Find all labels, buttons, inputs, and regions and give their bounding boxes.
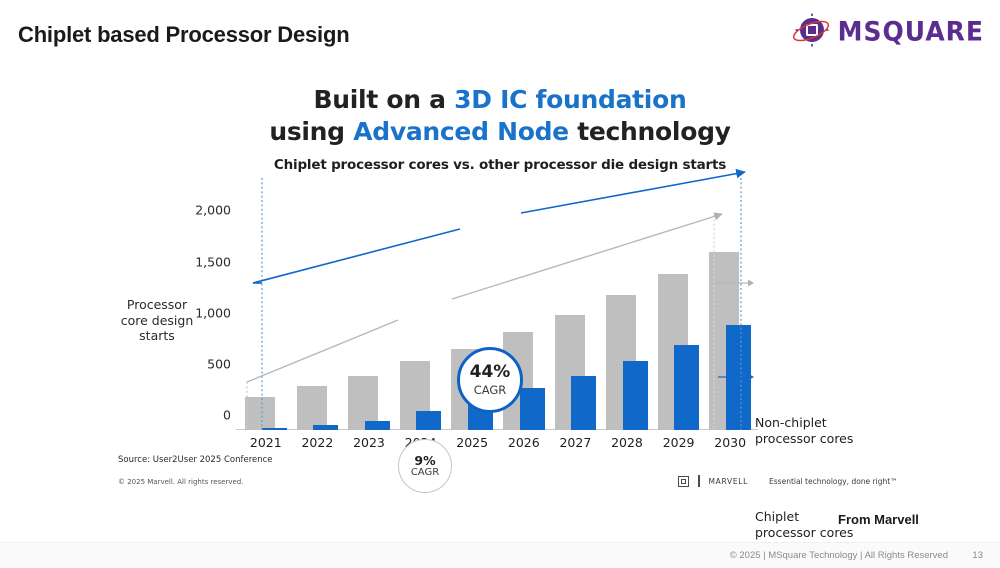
bar-group: 2022: [297, 205, 339, 430]
brand-name: MSQUARE: [838, 16, 984, 46]
bar-chiplet: [262, 428, 287, 430]
attribution-label: From Marvell: [838, 512, 919, 527]
annotation-value: 44%: [470, 364, 511, 382]
chart-copyright-note: © 2025 Marvell. All rights reserved.: [118, 478, 243, 486]
annotation-label: CAGR: [411, 468, 439, 479]
annotation-value: 9%: [414, 454, 435, 467]
bar-group: 2021: [245, 205, 287, 430]
annotation-non-chiplet-cagr: 9% CAGR: [398, 439, 452, 493]
bar-chiplet: [520, 388, 545, 430]
headline-line2-part1: using: [269, 117, 353, 146]
bar-chiplet: [623, 361, 648, 430]
marvell-name: MARVELL: [709, 477, 749, 486]
x-axis-tick-label: 2027: [559, 435, 591, 450]
headline: Built on a 3D IC foundation using Advanc…: [0, 84, 1000, 148]
marvell-logo: MARVELL Essential technology, done right…: [678, 475, 898, 487]
bar-group: 2027: [555, 205, 597, 430]
x-axis-tick-label: 2022: [301, 435, 333, 450]
gear-orbit-icon: [791, 13, 831, 49]
bar-group: 2024: [400, 205, 442, 430]
brand-logo: MSQUARE: [791, 12, 984, 50]
y-axis-title: Processor core design starts: [118, 297, 196, 344]
bar-non-chiplet: [297, 386, 327, 430]
bar-chiplet: [726, 325, 751, 430]
page-title: Chiplet based Processor Design: [18, 22, 349, 48]
bar-chiplet: [365, 421, 390, 430]
x-axis-tick-label: 2030: [714, 435, 746, 450]
bar-group: 2028: [606, 205, 648, 430]
headline-line1-part1: Built on a: [314, 85, 455, 114]
page-number: 13: [972, 550, 983, 561]
headline-line1-accent: 3D IC foundation: [454, 85, 686, 114]
y-axis-tick-label: 2,000: [195, 203, 231, 218]
bar-group: 2029: [658, 205, 700, 430]
footer-copyright: © 2025 | MSquare Technology | All Rights…: [730, 550, 948, 561]
annotation-chiplet-cagr: 44% CAGR: [457, 347, 523, 413]
bar-chiplet: [571, 376, 596, 430]
x-axis-tick-label: 2029: [663, 435, 695, 450]
x-axis-tick-label: 2028: [611, 435, 643, 450]
headline-line2-part2: technology: [569, 117, 731, 146]
chart: Chiplet processor cores vs. other proces…: [0, 150, 1000, 500]
bar-non-chiplet: [245, 397, 275, 430]
chart-title: Chiplet processor cores vs. other proces…: [0, 157, 1000, 173]
bar-group: 2023: [348, 205, 390, 430]
x-axis-tick-label: 2023: [353, 435, 385, 450]
x-axis-tick-label: 2026: [508, 435, 540, 450]
legend-callout-non-chiplet: Non-chiplet processor cores: [755, 415, 853, 447]
bar-chiplet: [416, 411, 441, 430]
y-axis-tick-label: 0: [223, 408, 231, 423]
footer-bar: © 2025 | MSquare Technology | All Rights…: [0, 542, 1000, 568]
legend-callout-line2: processor cores: [755, 525, 853, 541]
bar-chiplet: [313, 425, 338, 430]
x-axis-tick-label: 2025: [456, 435, 488, 450]
x-axis-tick-label: 2021: [250, 435, 282, 450]
legend-callout-line1: Non-chiplet: [755, 415, 853, 431]
marvell-square-icon: [678, 476, 689, 487]
y-axis-tick-label: 1,500: [195, 254, 231, 269]
headline-line2-accent: Advanced Node: [353, 117, 569, 146]
source-note: Source: User2User 2025 Conference: [118, 455, 273, 465]
legend-callout-line2: processor cores: [755, 431, 853, 447]
marvell-tagline: Essential technology, done right™: [769, 477, 898, 486]
y-axis-tick-label: 500: [207, 356, 231, 371]
marvell-divider: [698, 475, 700, 487]
bar-chiplet: [674, 345, 699, 430]
y-axis-tick-label: 1,000: [195, 305, 231, 320]
annotation-label: CAGR: [474, 384, 507, 396]
bar-group: 2030: [709, 205, 751, 430]
